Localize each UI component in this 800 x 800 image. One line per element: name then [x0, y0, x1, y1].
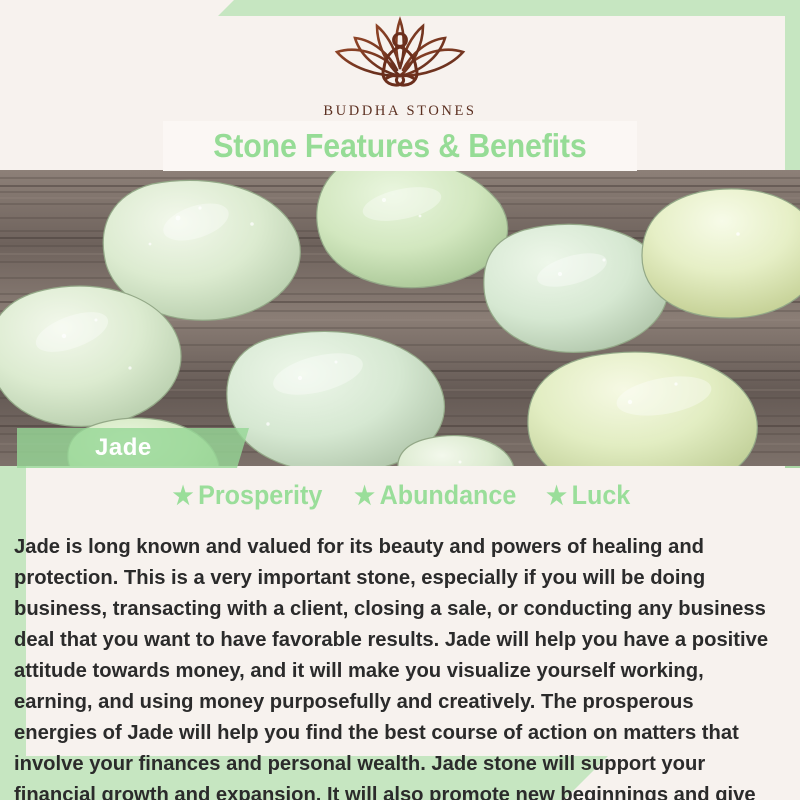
jade-stones-photo — [0, 170, 800, 466]
benefit-label: Luck — [572, 480, 631, 510]
benefit-item-luck: ★Luck — [546, 480, 630, 511]
benefit-item-abundance: ★Abundance — [354, 480, 516, 511]
section-title-banner: Stone Features & Benefits — [163, 121, 637, 171]
star-icon: ★ — [172, 482, 193, 510]
stone-name-banner: Jade — [17, 428, 249, 468]
infographic-card: BUDDHA STONES — [0, 0, 800, 800]
star-icon: ★ — [354, 482, 375, 510]
benefits-row: ★Prosperity ★Abundance ★Luck — [0, 480, 800, 511]
star-icon: ★ — [546, 482, 567, 510]
brand-name: BUDDHA STONES — [323, 103, 476, 120]
stone-name-label: Jade — [95, 434, 152, 462]
benefit-label: Prosperity — [198, 480, 322, 510]
page-title: Stone Features & Benefits — [213, 127, 586, 165]
benefit-item-prosperity: ★Prosperity — [172, 480, 322, 511]
benefit-label: Abundance — [380, 480, 517, 510]
lotus-meditation-icon — [325, 16, 475, 99]
stone-description: Jade is long known and valued for its be… — [14, 531, 778, 800]
